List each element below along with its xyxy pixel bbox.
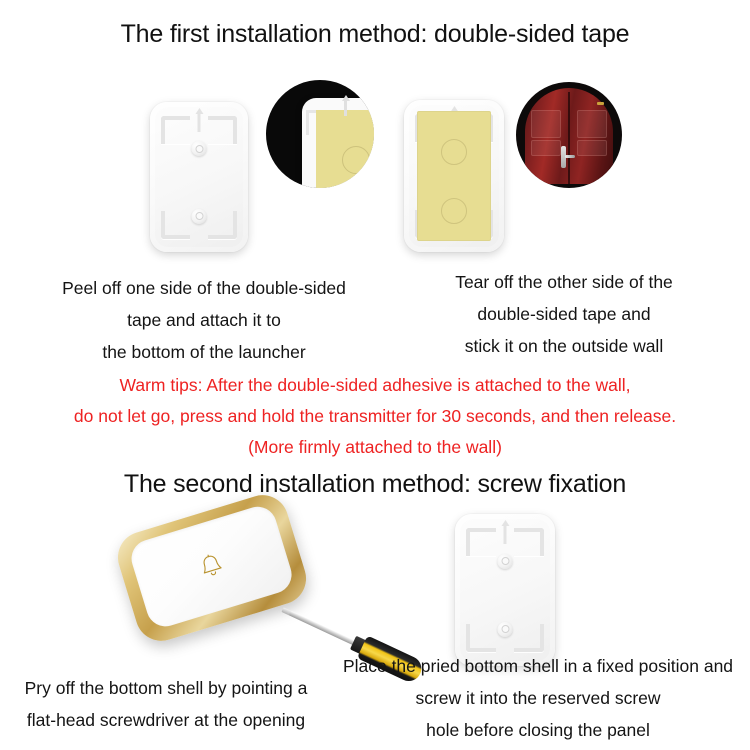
door-gold-accent (597, 102, 604, 105)
warning-line: Warm tips: After the double-sided adhesi… (0, 370, 750, 401)
corner-clip-top-right (208, 116, 237, 144)
closeup-screw-ring (342, 146, 370, 174)
caption-line: hole before closing the panel (326, 714, 750, 746)
door-panel (577, 110, 607, 138)
tape-ring-top (441, 139, 467, 165)
bell-icon (193, 548, 230, 585)
gold-doorbell-transmitter (111, 489, 312, 648)
up-arrow-icon (504, 525, 507, 545)
caption-peel-tape: Peel off one side of the double-sided ta… (8, 272, 400, 368)
corner-clip-top-right (514, 528, 544, 556)
up-arrow-icon (198, 113, 201, 133)
caption-line: Peel off one side of the double-sided (8, 272, 400, 304)
screw-boss-bottom (192, 209, 207, 224)
page-title-second-method: The second installation method: screw fi… (0, 470, 750, 499)
caption-line: Tear off the other side of the (378, 266, 750, 298)
red-door-photo (516, 82, 622, 188)
installation-instructions-page: The first installation method: double-si… (0, 0, 750, 750)
doorbell-white-face (127, 502, 296, 631)
corner-clip-bottom-left (161, 211, 190, 239)
door-center-seam (568, 92, 570, 184)
caption-pry-shell: Pry off the bottom shell by pointing a f… (0, 672, 332, 736)
caption-line: screw it into the reserved screw (326, 682, 750, 714)
caption-place-shell: Place the pried bottom shell in a fixed … (326, 650, 750, 746)
caption-line: tape and attach it to (8, 304, 400, 336)
door-panel (531, 140, 561, 156)
door-panel (531, 110, 561, 138)
adhesive-tape-closeup (266, 80, 374, 188)
caption-line: double-sided tape and (378, 298, 750, 330)
white-mounting-bracket (150, 102, 248, 252)
caption-line: the bottom of the launcher (8, 336, 400, 368)
corner-clip-top-left (161, 116, 190, 144)
screwdriver-shaft (289, 611, 358, 647)
tape-ring-bottom (441, 198, 467, 224)
corner-clip-top-left (466, 528, 496, 556)
screw-boss-top (192, 141, 207, 156)
closeup-up-arrow-icon (344, 100, 347, 116)
door-handle (561, 146, 566, 168)
screw-boss-bottom (498, 622, 513, 637)
corner-clip-bottom-left (466, 624, 496, 652)
screw-boss-top (498, 554, 513, 569)
warm-tips-warning: Warm tips: After the double-sided adhesi… (0, 370, 750, 463)
caption-line: stick it on the outside wall (378, 330, 750, 362)
corner-clip-bottom-right (514, 624, 544, 652)
warning-line: do not let go, press and hold the transm… (0, 401, 750, 432)
bracket-screw-mount (455, 514, 555, 666)
adhesive-tape (417, 111, 491, 242)
door-body (525, 88, 613, 184)
bracket-with-adhesive-tape (404, 100, 504, 252)
caption-line: flat-head screwdriver at the opening (0, 704, 332, 736)
page-title-first-method: The first installation method: double-si… (0, 20, 750, 49)
caption-tear-tape: Tear off the other side of the double-si… (378, 266, 750, 362)
corner-clip-bottom-right (208, 211, 237, 239)
caption-line: Pry off the bottom shell by pointing a (0, 672, 332, 704)
warning-line: (More firmly attached to the wall) (0, 432, 750, 463)
caption-line: Place the pried bottom shell in a fixed … (326, 650, 750, 682)
door-panel (577, 140, 607, 156)
